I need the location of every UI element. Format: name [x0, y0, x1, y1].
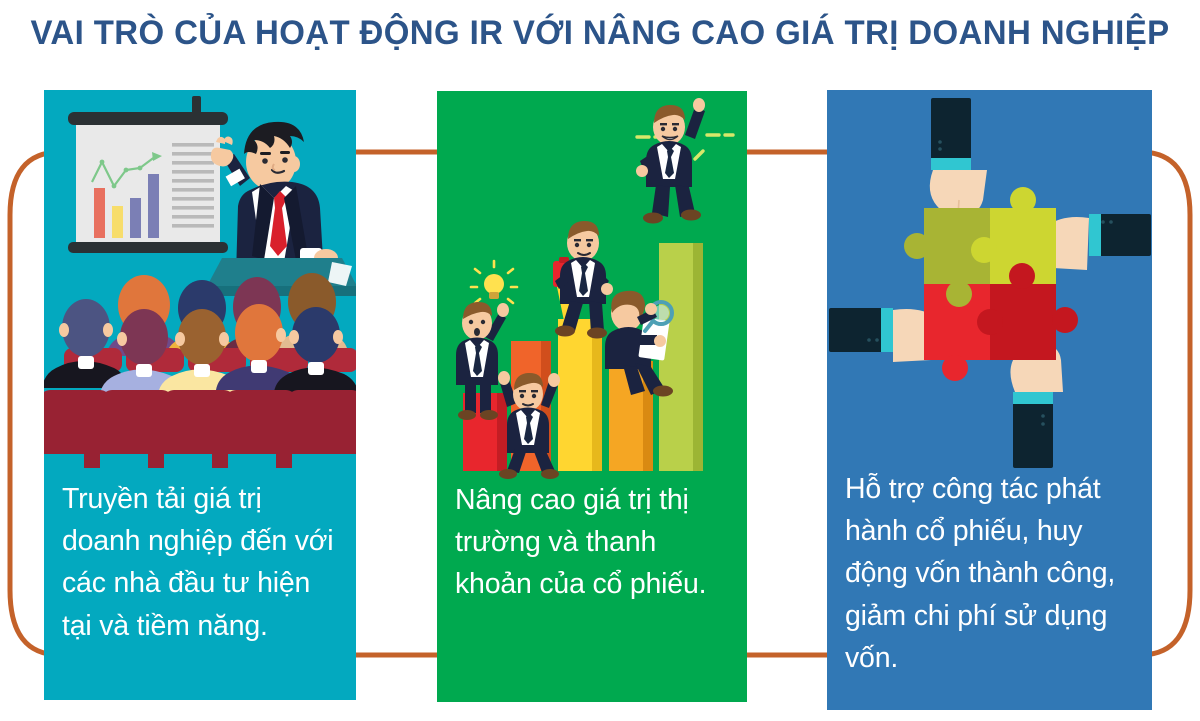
panel-teamwork[interactable]: Hỗ trợ công tác phát hành cổ phiếu, huy … [827, 90, 1152, 710]
panel-caption-1: Truyền tải giá trị doanh nghiệp đến với … [62, 478, 344, 647]
page-title: VAI TRÒ CỦA HOẠT ĐỘNG IR VỚI NÂNG CAO GI… [18, 14, 1182, 53]
audience-front-row [44, 299, 356, 394]
panel-presentation[interactable]: Truyền tải giá trị doanh nghiệp đến với … [44, 90, 356, 700]
infographic-root: VAI TRÒ CỦA HOẠT ĐỘNG IR VỚI NÂNG CAO GI… [0, 0, 1200, 721]
seat-row-front [44, 390, 356, 454]
ascending-bar-chart-with-businessmen-illustration [437, 91, 747, 491]
panel-growth[interactable]: Nâng cao giá trị thị trường và thanh kho… [437, 91, 747, 702]
four-hands-assembling-jigsaw-puzzle-illustration [827, 90, 1152, 480]
panel-caption-3: Hỗ trợ công tác phát hành cổ phiếu, huy … [845, 468, 1140, 679]
presenter-with-chart-and-audience-illustration [44, 90, 356, 490]
panel-caption-2: Nâng cao giá trị thị trường và thanh kho… [455, 479, 735, 606]
jigsaw-puzzle [904, 187, 1078, 381]
